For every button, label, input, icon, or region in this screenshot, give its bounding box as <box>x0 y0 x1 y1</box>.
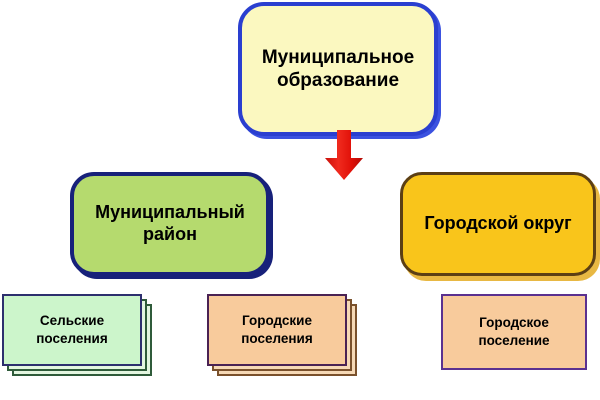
card-urban-settlements[interactable]: Городские поселения <box>207 294 347 366</box>
card-rural-settlements-label: Сельские поселения <box>36 312 107 348</box>
node-municipal-formation[interactable]: Муниципальное образование <box>238 2 438 136</box>
card-urban-settlement-single-label: Городское поселение <box>478 314 549 350</box>
card-stack-rural-settlements[interactable]: Сельские поселения <box>2 294 152 376</box>
card-urban-settlement-single[interactable]: Городское поселение <box>441 294 587 370</box>
card-urban-settlements-label: Городские поселения <box>241 312 312 348</box>
node-municipal-district-label: Муниципальный район <box>95 202 245 246</box>
card-stack-urban-settlements[interactable]: Городские поселения <box>207 294 357 376</box>
card-rural-settlements[interactable]: Сельские поселения <box>2 294 142 366</box>
down-arrow-icon <box>318 130 370 182</box>
diagram-canvas: Муниципальное образование Муниципальный … <box>0 0 600 400</box>
node-municipal-district[interactable]: Муниципальный район <box>70 172 270 276</box>
node-municipal-formation-label: Муниципальное образование <box>262 46 414 92</box>
node-urban-okrug[interactable]: Городской округ <box>400 172 596 276</box>
node-urban-okrug-label: Городской округ <box>424 213 571 235</box>
